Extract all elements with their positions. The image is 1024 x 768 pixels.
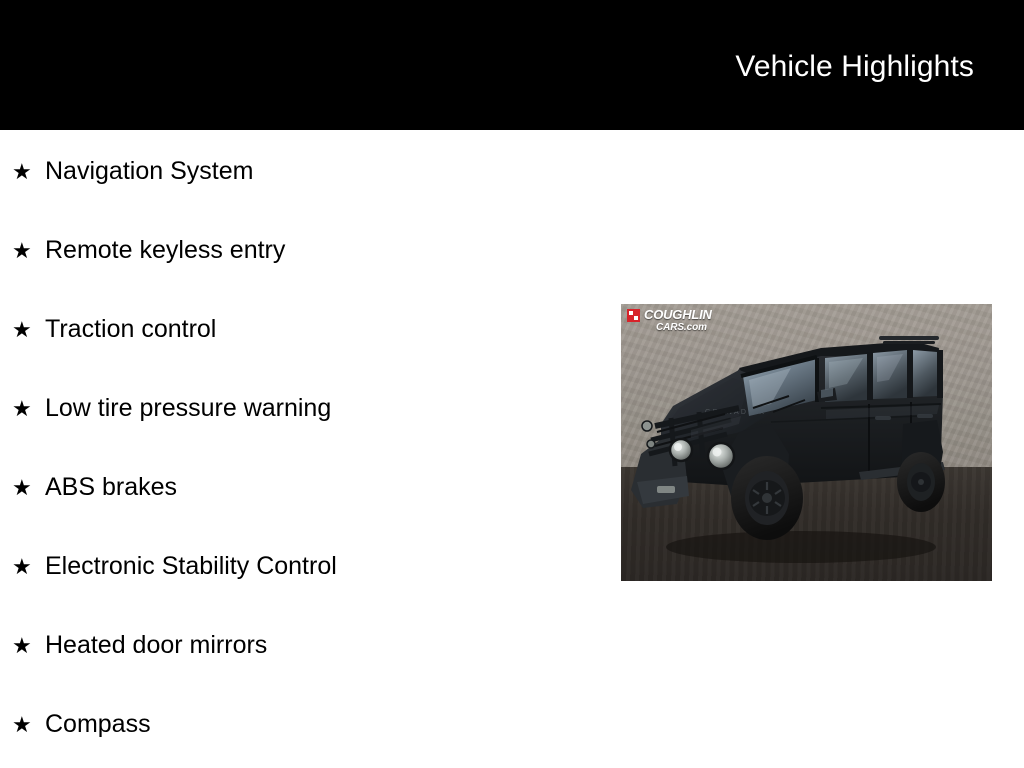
watermark-text: COUGHLIN CARS.com bbox=[644, 308, 712, 333]
suv-illustration: GRENADIER bbox=[621, 304, 992, 581]
highlight-label: ABS brakes bbox=[45, 468, 177, 507]
watermark-line-2: CARS.com bbox=[656, 323, 712, 333]
list-item: ★ Remote keyless entry bbox=[0, 231, 600, 310]
highlight-label: Electronic Stability Control bbox=[45, 547, 337, 586]
coughlin-logo-icon bbox=[627, 309, 640, 322]
highlight-label: Low tire pressure warning bbox=[45, 389, 331, 428]
highlight-label: Heated door mirrors bbox=[45, 626, 267, 665]
star-bullet-icon: ★ bbox=[12, 152, 45, 191]
dealer-watermark: COUGHLIN CARS.com bbox=[627, 308, 712, 333]
watermark-line-1: COUGHLIN bbox=[644, 308, 712, 321]
list-item: ★ ABS brakes bbox=[0, 468, 600, 547]
highlight-label: Compass bbox=[45, 705, 151, 744]
star-bullet-icon: ★ bbox=[12, 626, 45, 665]
list-item: ★ Traction control bbox=[0, 310, 600, 389]
list-item: ★ Low tire pressure warning bbox=[0, 389, 600, 468]
vehicle-photo: GRENADIER bbox=[621, 304, 992, 581]
star-bullet-icon: ★ bbox=[12, 310, 45, 349]
star-bullet-icon: ★ bbox=[12, 231, 45, 270]
page-title: Vehicle Highlights bbox=[735, 49, 974, 85]
list-item: ★ Compass bbox=[0, 705, 600, 768]
star-bullet-icon: ★ bbox=[12, 705, 45, 744]
star-bullet-icon: ★ bbox=[12, 468, 45, 507]
vehicle-highlights-page: Vehicle Highlights ★ Navigation System ★… bbox=[0, 0, 1024, 768]
highlight-label: Navigation System bbox=[45, 152, 253, 191]
highlight-label: Traction control bbox=[45, 310, 216, 349]
page-header: Vehicle Highlights bbox=[0, 0, 1024, 130]
star-bullet-icon: ★ bbox=[12, 547, 45, 586]
highlight-label: Remote keyless entry bbox=[45, 231, 285, 270]
star-bullet-icon: ★ bbox=[12, 389, 45, 428]
vehicle-highlights-list: ★ Navigation System ★ Remote keyless ent… bbox=[0, 152, 600, 768]
list-item: ★ Heated door mirrors bbox=[0, 626, 600, 705]
list-item: ★ Electronic Stability Control bbox=[0, 547, 600, 626]
list-item: ★ Navigation System bbox=[0, 152, 600, 231]
